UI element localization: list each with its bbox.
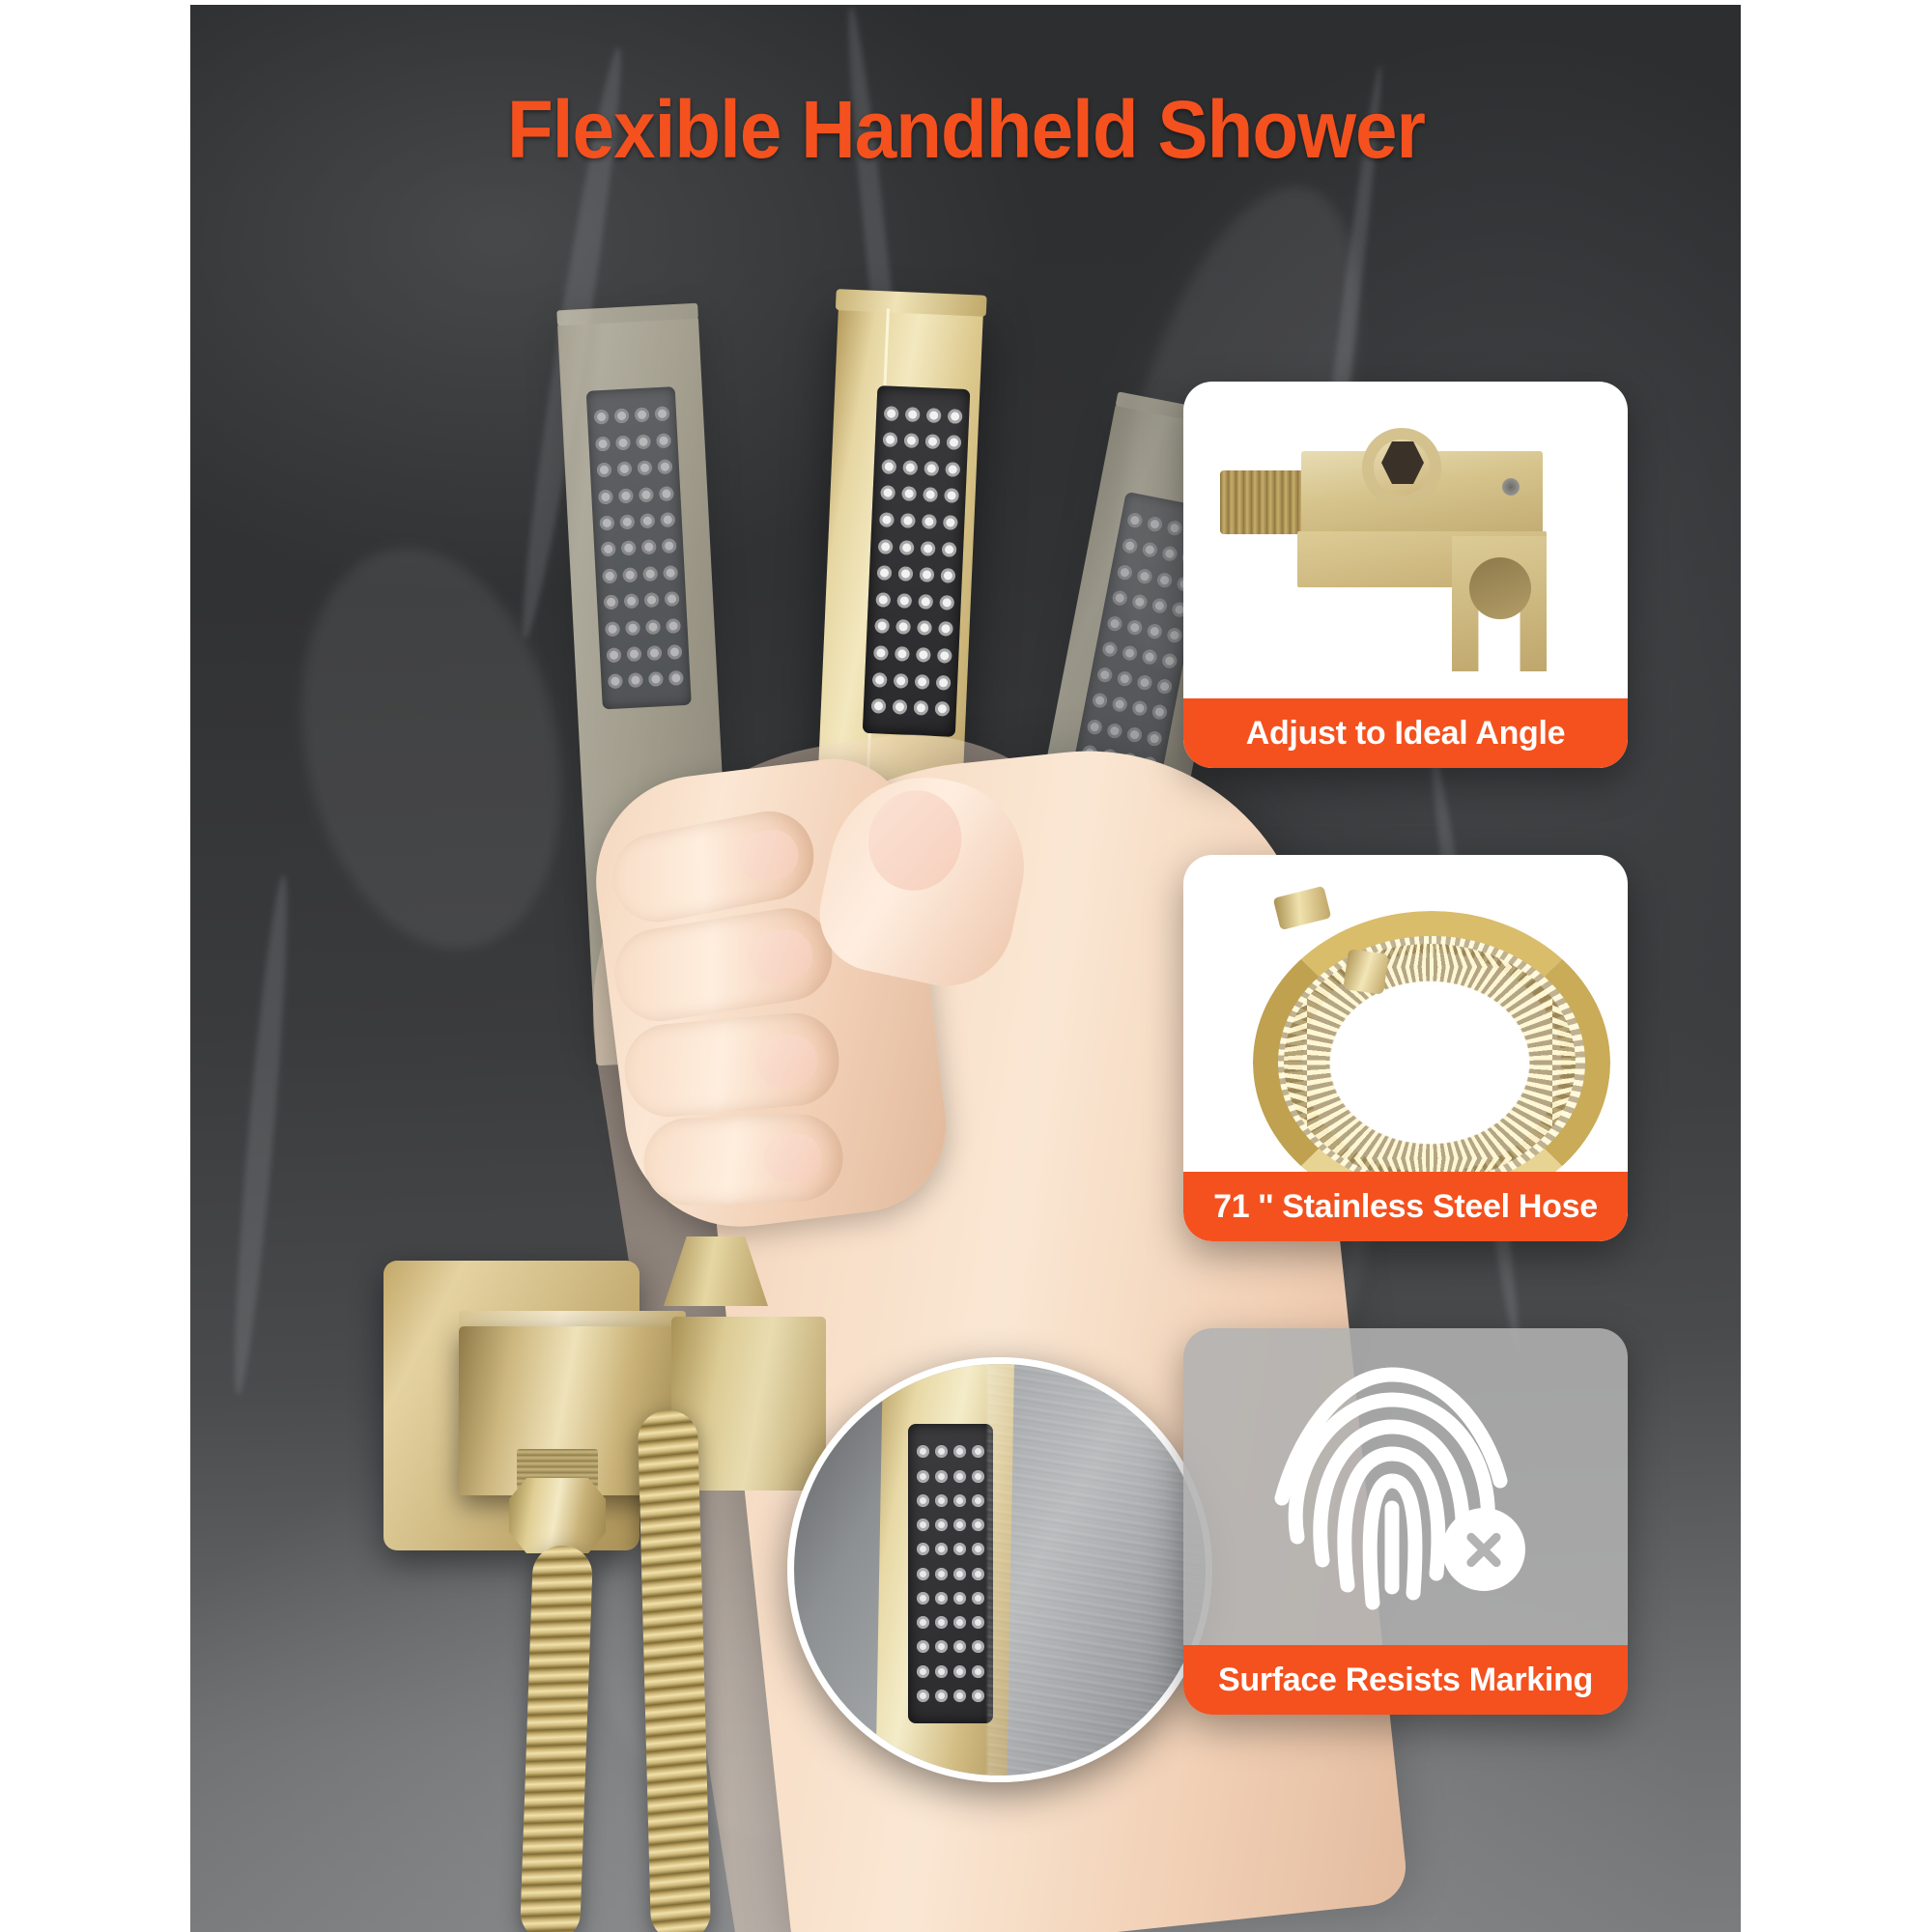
- page-title: Flexible Handheld Shower: [68, 83, 1864, 177]
- feature-card-resists-marking[interactable]: Surface Resists Marking: [1183, 1328, 1628, 1715]
- hose-end-fitting-top: [1273, 886, 1332, 930]
- feature-card-stainless-hose[interactable]: 71 '' Stainless Steel Hose: [1183, 855, 1628, 1241]
- cradle-socket: [1469, 557, 1531, 619]
- wand-cap: [836, 289, 987, 317]
- hex-nut-connector: [509, 1478, 606, 1553]
- product-infographic: Flexible Handheld Shower Adjust to Ideal…: [0, 0, 1932, 1932]
- set-screw-icon: [1502, 478, 1520, 496]
- card-art-coiled-hose: [1183, 855, 1628, 1172]
- card-banner-label: Adjust to Ideal Angle: [1183, 698, 1628, 768]
- nozzle-plate: [863, 385, 971, 737]
- no-mark-badge-icon: [1442, 1508, 1525, 1591]
- bracket-threaded-inlet-icon: [1220, 470, 1309, 534]
- hose-coil-inner: [1284, 944, 1576, 1181]
- card-art-fingerprint: [1183, 1328, 1628, 1645]
- feature-card-adjust-angle[interactable]: Adjust to Ideal Angle: [1183, 382, 1628, 768]
- inset-nozzle-plate: [908, 1424, 993, 1723]
- card-banner-label: Surface Resists Marking: [1183, 1645, 1628, 1715]
- flexible-hose-left: [520, 1545, 593, 1932]
- card-banner-label: 71 '' Stainless Steel Hose: [1183, 1172, 1628, 1241]
- nozzle-plate: [586, 386, 692, 709]
- hose-end-fitting-inner: [1343, 949, 1388, 994]
- card-art-wall-bracket: [1183, 382, 1628, 698]
- water-spray: [987, 1364, 1212, 1782]
- spray-closeup-inset: [787, 1357, 1212, 1782]
